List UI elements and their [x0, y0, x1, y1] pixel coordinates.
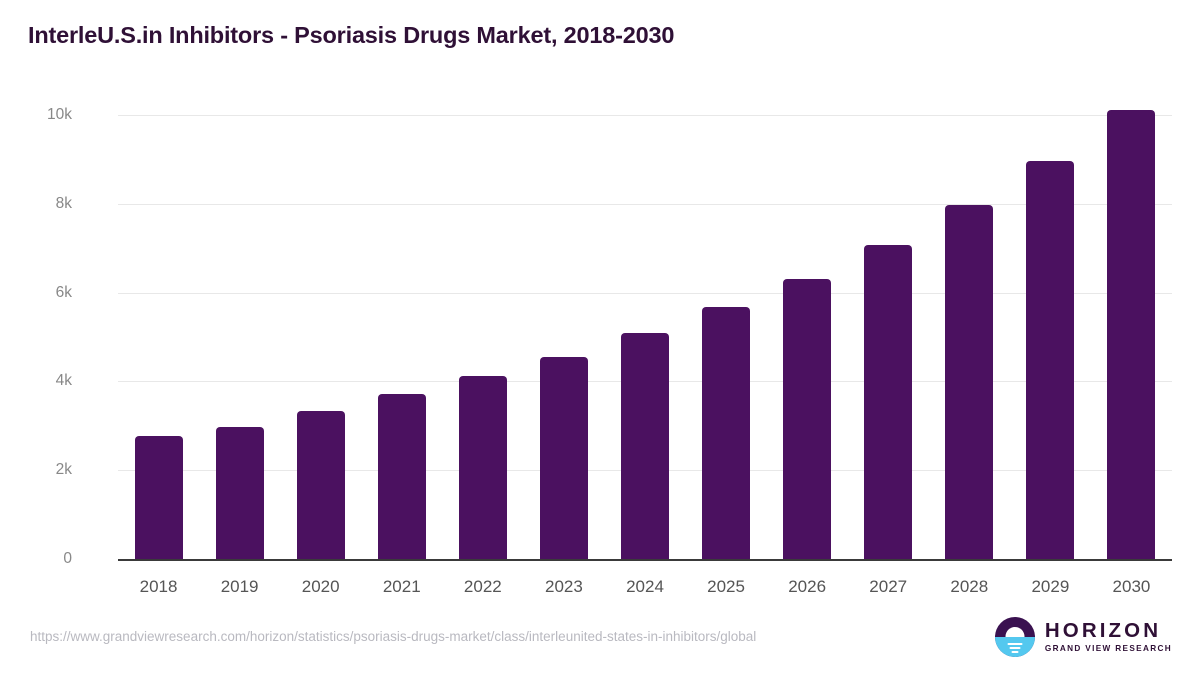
source-url-link[interactable]: https://www.grandviewresearch.com/horizo… [30, 629, 756, 644]
y-tick-label: 4k [12, 372, 72, 390]
chart-card: InterleU.S.in Inhibitors - Psoriasis Dru… [0, 0, 1200, 675]
bar-2030[interactable] [1107, 110, 1155, 559]
x-tick-label-2020: 2020 [302, 577, 340, 597]
x-tick-label-2026: 2026 [788, 577, 826, 597]
bar-2027[interactable] [864, 245, 912, 559]
x-axis-line [118, 559, 1172, 561]
horizon-logo[interactable]: HORIZON GRAND VIEW RESEARCH [995, 617, 1172, 657]
bar-2025[interactable] [702, 307, 750, 559]
bar-2019[interactable] [216, 427, 264, 559]
logo-text-block: HORIZON GRAND VIEW RESEARCH [1045, 621, 1172, 653]
bar-series [118, 115, 1172, 559]
x-tick-label-2019: 2019 [221, 577, 259, 597]
chart-plot: Market Size (US$M) 02k4k6k8k10k 20182019… [0, 0, 1200, 600]
y-tick-label: 10k [12, 106, 72, 124]
x-tick-label-2023: 2023 [545, 577, 583, 597]
logo-line-1 [1007, 643, 1022, 645]
x-tick-label-2028: 2028 [950, 577, 988, 597]
x-tick-label-2021: 2021 [383, 577, 421, 597]
bar-2029[interactable] [1026, 161, 1074, 559]
x-tick-label-2022: 2022 [464, 577, 502, 597]
horizon-logo-icon [995, 617, 1035, 657]
x-tick-label-2030: 2030 [1113, 577, 1151, 597]
x-tick-label-2027: 2027 [869, 577, 907, 597]
logo-dome-shape [1005, 627, 1024, 637]
y-tick-label: 6k [12, 284, 72, 302]
x-tick-label-2024: 2024 [626, 577, 664, 597]
x-tick-label-2025: 2025 [707, 577, 745, 597]
logo-line-2 [1009, 647, 1020, 649]
logo-subtitle: GRAND VIEW RESEARCH [1045, 645, 1172, 653]
plot-area: 02k4k6k8k10k 201820192020202120222023202… [118, 115, 1172, 559]
logo-line-3 [1011, 651, 1018, 653]
x-tick-label-2029: 2029 [1031, 577, 1069, 597]
bar-2021[interactable] [378, 394, 426, 559]
bar-2026[interactable] [783, 279, 831, 559]
logo-wordmark: HORIZON [1045, 621, 1172, 642]
y-tick-label: 2k [12, 461, 72, 479]
bar-2024[interactable] [621, 333, 669, 559]
y-tick-label: 8k [12, 195, 72, 213]
x-tick-label-2018: 2018 [140, 577, 178, 597]
bar-2028[interactable] [945, 205, 993, 559]
bar-2020[interactable] [297, 411, 345, 559]
chart-footer: https://www.grandviewresearch.com/horizo… [0, 605, 1200, 675]
bar-2018[interactable] [135, 436, 183, 559]
bar-2023[interactable] [540, 357, 588, 559]
y-tick-label: 0 [12, 550, 72, 568]
bar-2022[interactable] [459, 376, 507, 559]
